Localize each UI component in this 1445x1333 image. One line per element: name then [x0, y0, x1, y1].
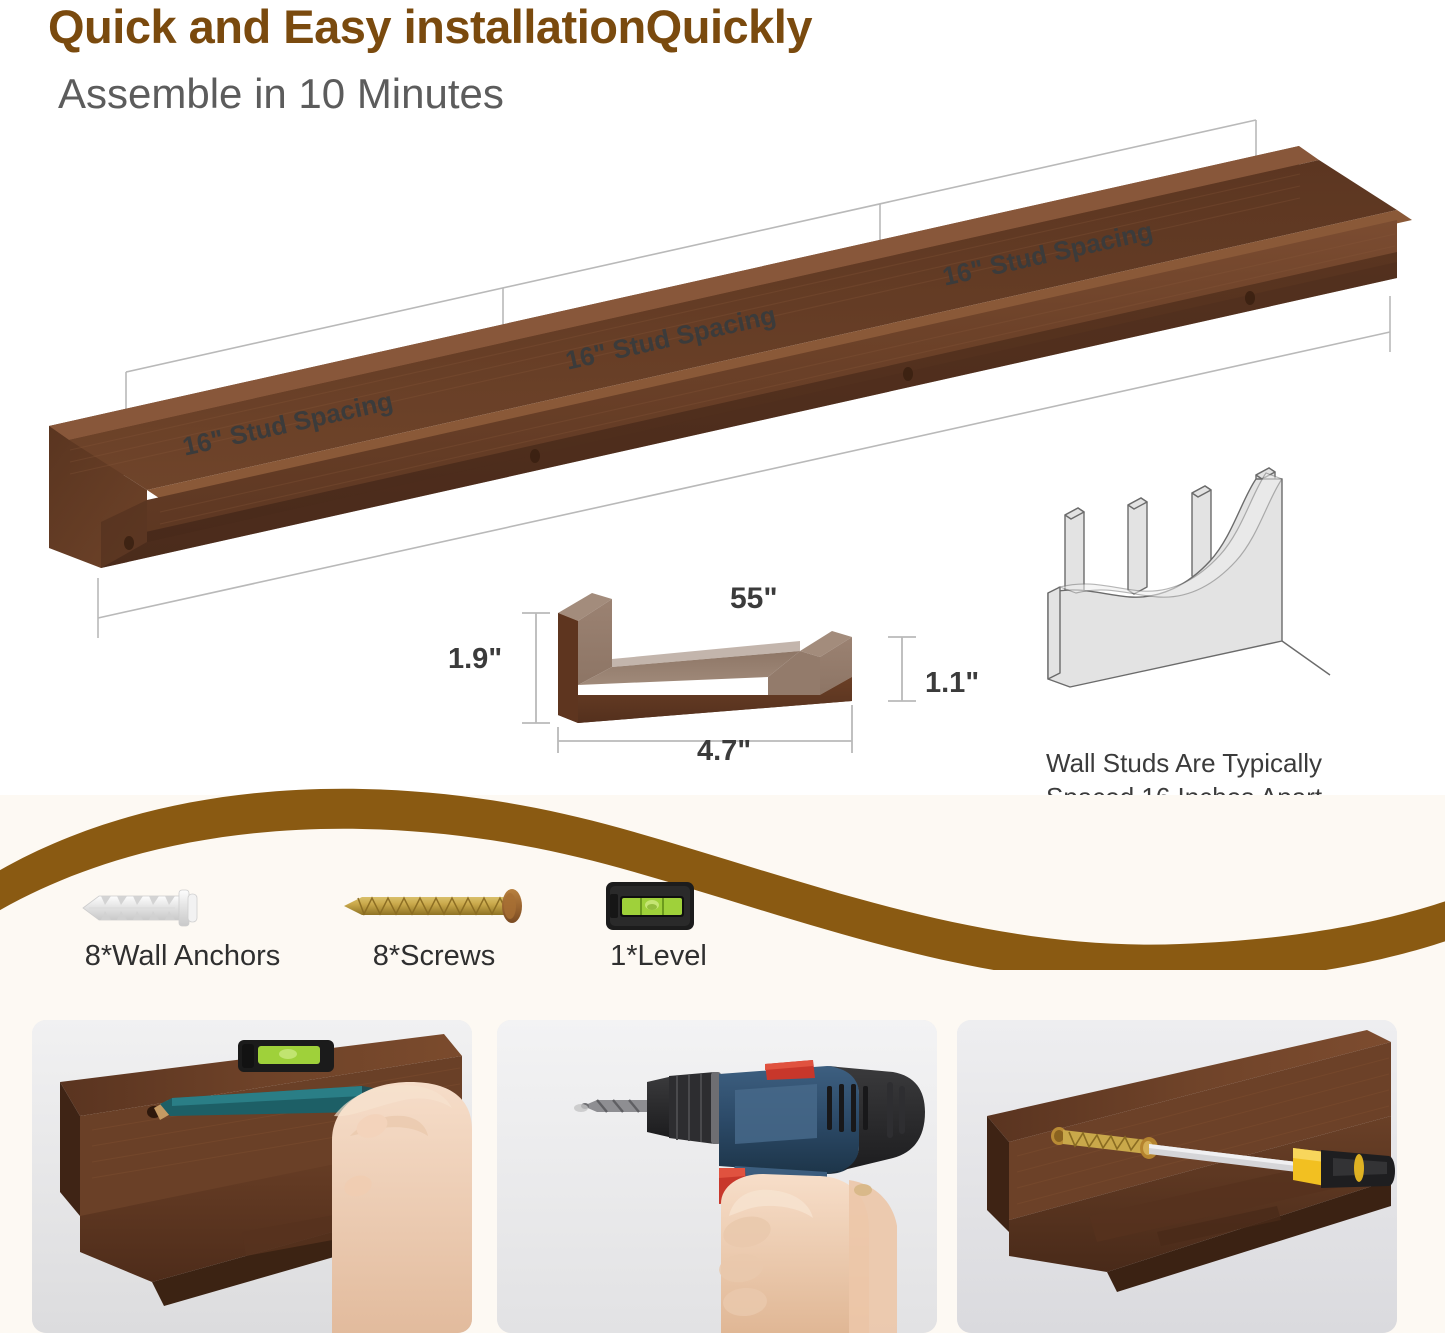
screw-icon — [330, 880, 538, 932]
cross-section-svg — [500, 555, 940, 755]
fasten-screw-photo — [957, 1020, 1397, 1333]
headline: Quick and Easy installationQuickly — [48, 2, 812, 51]
cross-section-lip-height-label: 1.1" — [925, 667, 979, 700]
infographic-root: Quick and Easy installationQuickly Assem… — [0, 0, 1445, 1333]
bubble-level-icon — [600, 880, 700, 932]
top-panel: Quick and Easy installationQuickly Assem… — [0, 0, 1445, 820]
wall-studs-caption-line1: Wall Studs Are Typically — [1046, 747, 1386, 781]
level-on-shelf — [238, 1040, 334, 1072]
hardware-label-2: 1*Level — [606, 940, 711, 973]
wall-studs-svg — [1010, 465, 1410, 765]
mark-holes-with-pencil-photo — [32, 1020, 472, 1333]
drill-chuck — [647, 1072, 721, 1144]
drill-body — [719, 1060, 925, 1174]
hardware-label-1: 8*Screws — [344, 940, 524, 973]
installation-photos — [0, 1020, 1445, 1333]
hardware-label-0: 8*Wall Anchors — [75, 940, 290, 973]
hand — [332, 1082, 472, 1333]
drill-wall-photo — [497, 1020, 937, 1333]
wall-anchor-icon — [75, 878, 210, 936]
hand — [717, 1174, 897, 1333]
cross-section-depth-label: 4.7" — [697, 735, 751, 768]
cross-section-height-label: 1.9" — [448, 643, 502, 676]
